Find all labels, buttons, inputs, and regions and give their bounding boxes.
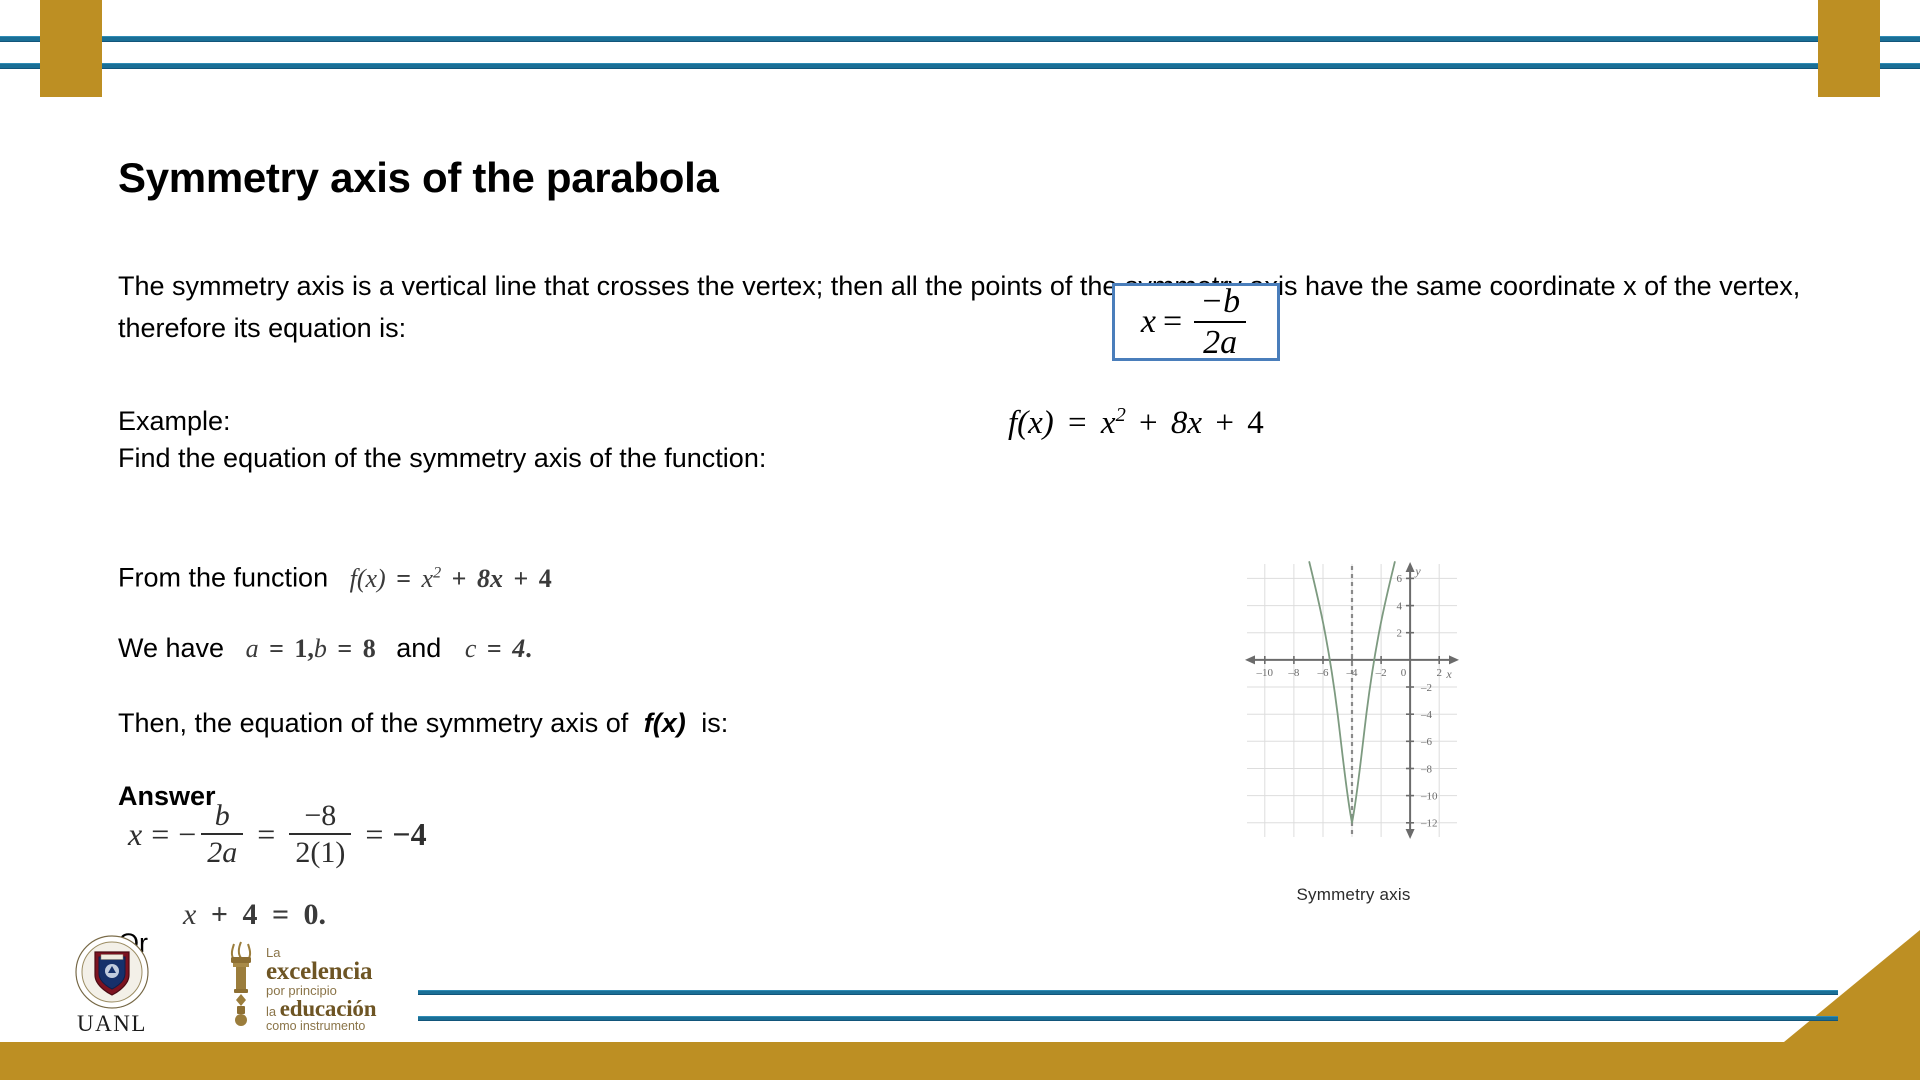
and-word: and	[396, 633, 441, 663]
from-term1: x	[422, 564, 434, 593]
excelencia-text: La excelencia por principio la educación…	[266, 946, 376, 1033]
symmetry-axis-formula-box: x = −b 2a	[1112, 283, 1280, 361]
excelencia-line-2: excelencia	[266, 959, 376, 984]
answer-frac1-den: 2a	[201, 837, 243, 868]
or-x: x	[183, 898, 196, 931]
excelencia-line-4-prefix: la	[266, 1004, 280, 1019]
from-function-expression: f(x) = x2 + 8x + 4	[350, 564, 552, 593]
svg-text:–2: –2	[1420, 682, 1432, 694]
x-axis-label: x	[1445, 667, 1452, 681]
formula-denominator: 2a	[1197, 325, 1243, 360]
svg-text:2: 2	[1397, 628, 1403, 640]
formula-numerator: −b	[1194, 284, 1246, 319]
then-label-part2: is:	[701, 708, 728, 738]
svg-text:2: 2	[1436, 667, 1442, 679]
coef-c-label: c	[465, 634, 477, 663]
excelencia-line-5: como instrumento	[266, 1020, 376, 1033]
excelencia-line-4-bold: educación	[280, 996, 377, 1021]
coefficient-c: c = 4.	[465, 634, 532, 663]
svg-text:–8: –8	[1287, 667, 1300, 679]
from-term3: 4	[539, 564, 552, 593]
answer-result: −4	[392, 816, 426, 853]
or-equation: x + 4 = 0.	[183, 898, 326, 932]
function-expression: f(x) = x2 + 8x + 4	[1008, 404, 1264, 442]
parabola-graph-svg: –10 –8 –6 –4 –2 0 2 6 4 2 –2 –4 –6 –8 –1…	[1243, 558, 1461, 843]
svg-text:–6: –6	[1420, 736, 1433, 748]
answer-frac1-bar	[201, 833, 243, 835]
top-blue-rule-1	[0, 36, 1920, 42]
find-equation-line: Find the equation of the symmetry axis o…	[118, 437, 766, 479]
svg-text:–10: –10	[1420, 791, 1438, 803]
then-label-part1: Then, the equation of the symmetry axis …	[118, 708, 628, 738]
footer-gold-triangle	[1784, 930, 1920, 1042]
footer-gold-bar	[0, 1042, 1920, 1080]
svg-text:–4: –4	[1346, 667, 1359, 679]
svg-text:0: 0	[1401, 667, 1407, 679]
coef-c-equals: =	[487, 634, 502, 663]
from-exponent: 2	[433, 564, 441, 581]
answer-equals-1: =	[151, 816, 169, 853]
footer-blue-rule-1	[418, 990, 1838, 995]
coef-period: .	[525, 634, 532, 663]
from-function-line: From the function f(x) = x2 + 8x + 4	[118, 552, 552, 600]
answer-fraction-2: −8 2(1)	[289, 800, 351, 868]
footer-blue-rule-2	[418, 1016, 1838, 1021]
coef-a-label: a	[246, 634, 259, 663]
from-equals: =	[396, 564, 411, 593]
coef-b-equals: =	[337, 634, 352, 663]
function-term1: x	[1101, 405, 1116, 441]
answer-equals-3: =	[365, 816, 383, 853]
svg-text:–6: –6	[1317, 667, 1330, 679]
function-plus1: +	[1139, 405, 1158, 441]
svg-text:6: 6	[1397, 573, 1403, 585]
function-lhs: f(x)	[1008, 405, 1054, 441]
svg-text:–8: –8	[1420, 764, 1433, 776]
excelencia-logo: La excelencia por principio la educación…	[218, 940, 408, 1040]
answer-equation: x = − b 2a = −8 2(1) = −4	[128, 800, 427, 868]
or-four: 4	[242, 898, 257, 931]
graph-caption: Symmetry axis	[1246, 885, 1461, 905]
svg-text:–2: –2	[1375, 667, 1387, 679]
svg-text:4: 4	[1397, 601, 1403, 613]
answer-frac2-den: 2(1)	[289, 837, 351, 868]
function-term3: 4	[1247, 405, 1264, 441]
answer-frac2-num: −8	[298, 800, 342, 831]
coef-b-label: b	[314, 634, 327, 663]
from-plus2: +	[513, 564, 528, 593]
formula-equals: =	[1163, 303, 1182, 341]
top-gold-bar-left	[40, 0, 102, 97]
function-equals: =	[1068, 405, 1087, 441]
parabola-graph: –10 –8 –6 –4 –2 0 2 6 4 2 –2 –4 –6 –8 –1…	[1243, 558, 1461, 878]
answer-fraction-1: b 2a	[201, 800, 243, 868]
formula-lhs: x	[1141, 303, 1156, 341]
formula-fraction-bar	[1194, 321, 1246, 323]
answer-minus: −	[178, 816, 196, 853]
we-have-line: We have a = 1,b = 8 and c = 4.	[118, 627, 532, 670]
function-exponent: 2	[1116, 404, 1126, 426]
or-plus: +	[211, 898, 228, 931]
from-function-label: From the function	[118, 563, 328, 593]
top-blue-rule-2	[0, 63, 1920, 69]
y-axis-label: y	[1414, 564, 1421, 578]
then-equation-line: Then, the equation of the symmetry axis …	[118, 702, 728, 744]
function-term2: 8x	[1171, 405, 1202, 441]
uanl-shield-icon	[75, 935, 149, 1009]
or-zero: 0	[304, 898, 319, 931]
uanl-wordmark: UANL	[60, 1011, 164, 1037]
answer-frac1-num: b	[209, 800, 236, 831]
answer-frac2-bar	[289, 833, 351, 835]
coef-c-value: 4	[512, 634, 525, 663]
or-period: .	[319, 898, 327, 931]
example-label: Example:	[118, 400, 231, 442]
svg-text:–10: –10	[1256, 667, 1274, 679]
top-gold-bar-right	[1818, 0, 1880, 97]
svg-text:–4: –4	[1420, 709, 1433, 721]
or-equals: =	[272, 898, 289, 931]
function-plus2: +	[1215, 405, 1234, 441]
answer-equals-2: =	[257, 816, 275, 853]
coef-a-value: 1	[294, 634, 307, 663]
coef-b-value: 8	[363, 634, 376, 663]
coefficients-ab: a = 1,b = 8	[246, 634, 383, 663]
coef-a-equals: =	[269, 634, 284, 663]
from-term2: 8x	[477, 564, 503, 593]
formula-fraction: −b 2a	[1194, 284, 1246, 361]
formula-expression: x = −b 2a	[1141, 284, 1251, 361]
from-lhs: f(x)	[350, 564, 386, 593]
answer-x: x	[128, 816, 142, 853]
torch-icon	[218, 940, 264, 1036]
we-have-label: We have	[118, 633, 224, 663]
page-title: Symmetry axis of the parabola	[118, 154, 719, 202]
svg-text:–12: –12	[1420, 818, 1438, 830]
uanl-logo: UANL	[60, 935, 164, 1043]
then-fx: f(x)	[644, 708, 686, 738]
intro-paragraph: The symmetry axis is a vertical line tha…	[118, 265, 1838, 349]
excelencia-line-4: la educación	[266, 997, 376, 1020]
from-plus1: +	[452, 564, 467, 593]
